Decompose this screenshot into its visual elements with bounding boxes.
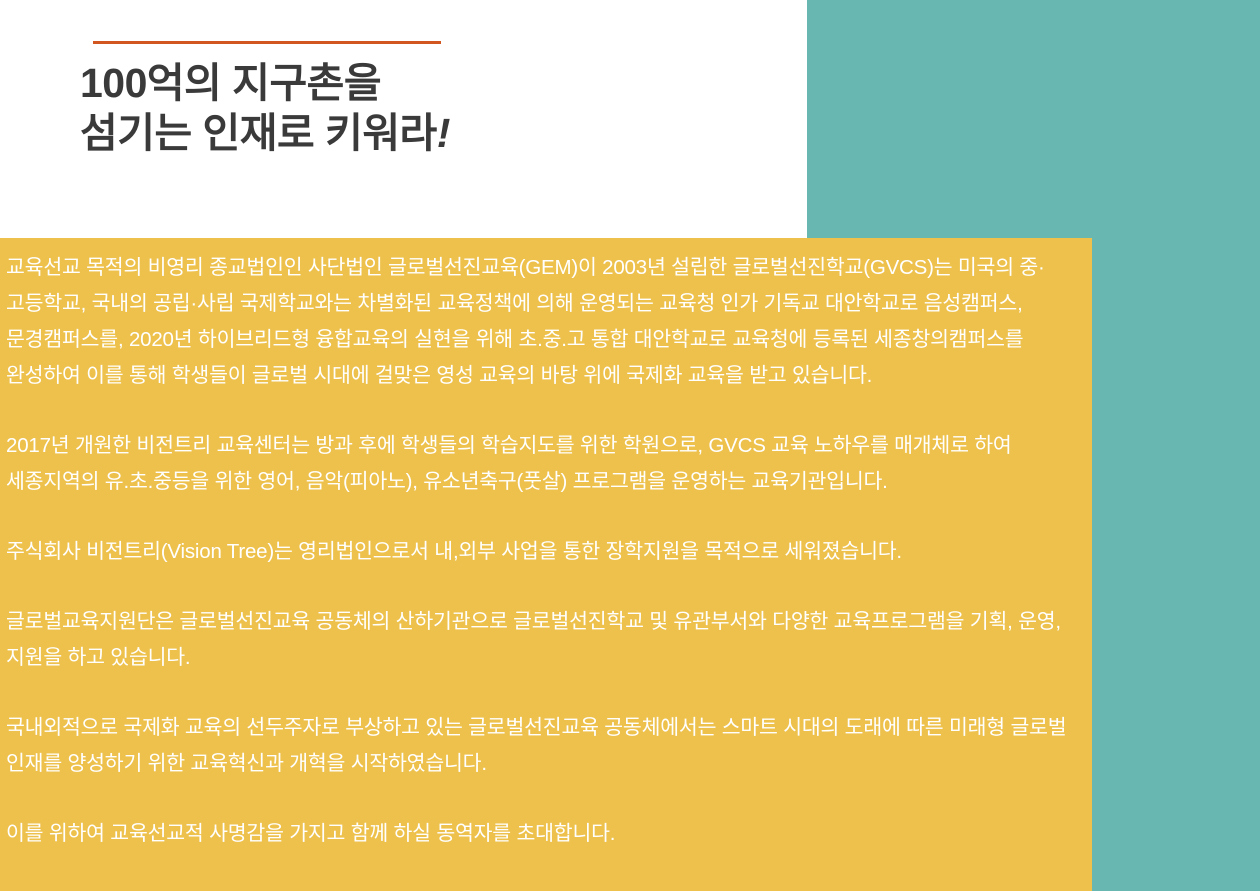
- paragraph: 글로벌교육지원단은 글로벌선진교육 공동체의 산하기관으로 글로벌선진학교 및 …: [6, 604, 1072, 676]
- body-copy: 교육선교 목적의 비영리 종교법인인 사단법인 글로벌선진교육(GEM)이 20…: [0, 250, 1080, 852]
- headline-line-1: 100억의 지구촌을: [80, 60, 381, 106]
- paragraph: 이를 위하여 교육선교적 사명감을 가지고 함께 하실 동역자를 초대합니다.: [6, 816, 1072, 852]
- header-section: 100억의 지구촌을 섬기는 인재로 키워라!: [0, 0, 807, 238]
- orange-accent-rule: [93, 41, 441, 44]
- page-title: 100억의 지구촌을 섬기는 인재로 키워라!: [80, 58, 800, 158]
- headline-exclamation: !: [437, 110, 450, 156]
- headline-line-2: 섬기는 인재로 키워라: [80, 110, 437, 156]
- paragraph: 2017년 개원한 비전트리 교육센터는 방과 후에 학생들의 학습지도를 위한…: [6, 428, 1072, 500]
- paragraph: 교육선교 목적의 비영리 종교법인인 사단법인 글로벌선진교육(GEM)이 20…: [6, 250, 1072, 394]
- paragraph: 주식회사 비전트리(Vision Tree)는 영리법인으로서 내,외부 사업을…: [6, 534, 1072, 570]
- paragraph: 국내외적으로 국제화 교육의 선두주자로 부상하고 있는 글로벌선진교육 공동체…: [6, 710, 1072, 782]
